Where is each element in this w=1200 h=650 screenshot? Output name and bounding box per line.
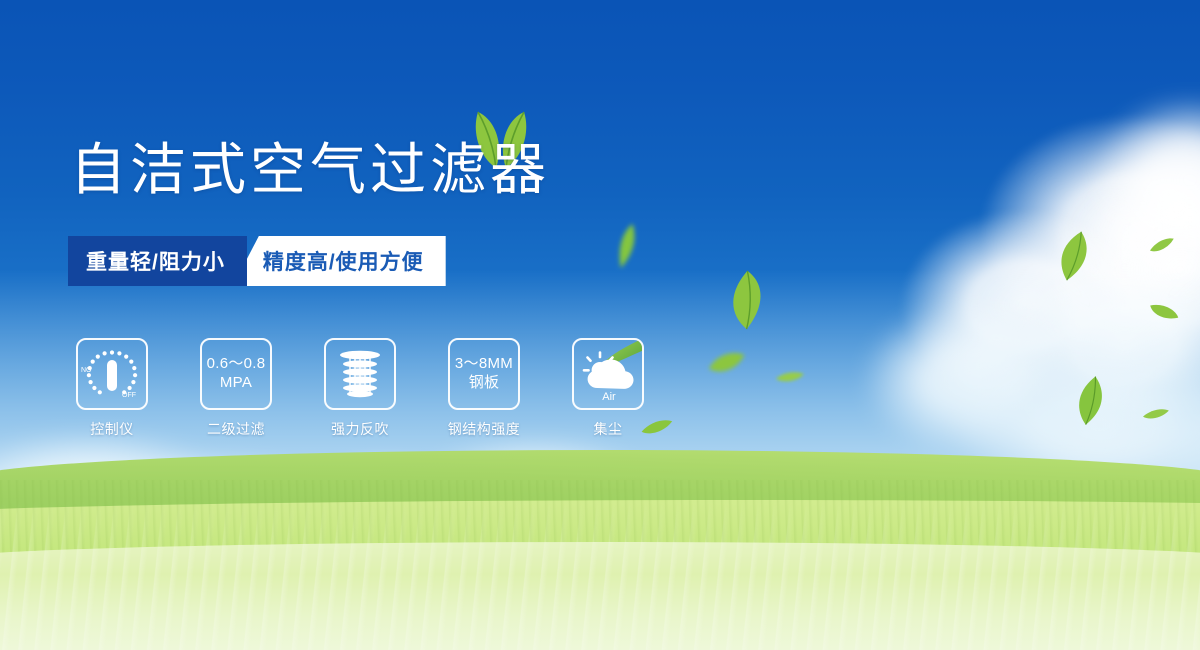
gauge-label-off: OFF xyxy=(122,392,136,399)
feature-item[interactable]: 0.6〜0.8 MPA 二级过滤 xyxy=(200,338,272,439)
cloud-air-icon: Air xyxy=(572,338,644,410)
feature-item[interactable]: Air 集尘 xyxy=(572,338,644,439)
feature-label: 钢结构强度 xyxy=(448,419,521,439)
air-label: Air xyxy=(602,391,616,403)
steel-thickness: 3〜8MM xyxy=(455,355,513,374)
feature-label: 集尘 xyxy=(594,419,623,439)
feature-item[interactable]: 3〜8MM 钢板 钢结构强度 xyxy=(448,338,520,439)
gauge-label-no: NO xyxy=(81,367,92,374)
product-banner: 自洁式空气过滤器 重量轻/阻力小 精度高/使用方便 xyxy=(0,0,1200,650)
feature-item[interactable]: 强力反吹 xyxy=(324,338,396,439)
feature-label: 强力反吹 xyxy=(331,419,389,439)
feature-label: 二级过滤 xyxy=(207,419,265,439)
feature-label: 控制仪 xyxy=(90,419,134,439)
feature-list: NO OFF 控制仪 0.6〜0.8 MPA 二级过滤 xyxy=(76,338,644,439)
filter-cartridge-icon xyxy=(324,338,396,410)
control-gauge-icon: NO OFF xyxy=(76,338,148,410)
page-title: 自洁式空气过滤器 xyxy=(70,142,550,198)
pressure-range: 0.6〜0.8 xyxy=(207,355,266,374)
steel-material: 钢板 xyxy=(455,374,513,393)
subtitle-right: 精度高/使用方便 xyxy=(233,236,446,286)
steel-plate-icon: 3〜8MM 钢板 xyxy=(448,338,520,410)
subtitle-bar: 重量轻/阻力小 精度高/使用方便 xyxy=(68,236,446,286)
subtitle-left: 重量轻/阻力小 xyxy=(68,236,247,286)
pressure-value-icon: 0.6〜0.8 MPA xyxy=(200,338,272,410)
feature-item[interactable]: NO OFF 控制仪 xyxy=(76,338,148,439)
pressure-unit: MPA xyxy=(207,374,266,393)
